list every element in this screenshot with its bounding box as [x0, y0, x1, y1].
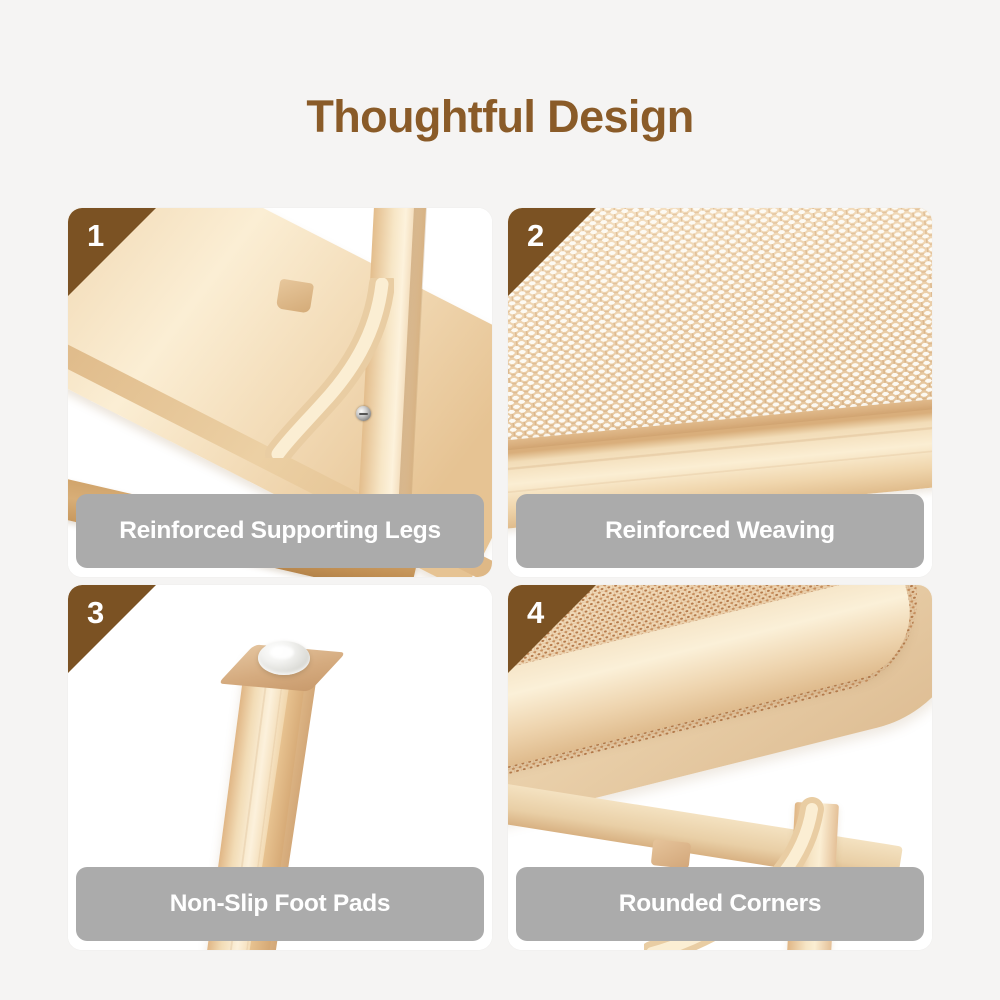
- card-1-caption-text: Reinforced Supporting Legs: [119, 517, 441, 545]
- page-title: Thoughtful Design: [0, 92, 1000, 142]
- card-4-caption-text: Rounded Corners: [619, 890, 821, 918]
- feature-card-2[interactable]: 2 Reinforced Weaving: [508, 208, 932, 577]
- card-1-badge: 1: [68, 208, 156, 296]
- card-4-number: 4: [527, 597, 544, 628]
- card-1-caption-bar: Reinforced Supporting Legs: [76, 494, 484, 568]
- feature-card-4[interactable]: 4 Rounded Corners: [508, 585, 932, 950]
- card-2-caption-bar: Reinforced Weaving: [516, 494, 924, 568]
- card-2-number: 2: [527, 220, 544, 251]
- feature-card-1[interactable]: 1 Reinforced Supporting Legs: [68, 208, 492, 577]
- curved-brace-shape: [264, 278, 394, 458]
- card-3-number: 3: [87, 597, 104, 628]
- card-3-caption-text: Non-Slip Foot Pads: [170, 890, 391, 918]
- non-slip-pad: [258, 641, 310, 675]
- card-2-badge: 2: [508, 208, 596, 296]
- card-1-number: 1: [87, 220, 104, 251]
- card-2-caption-text: Reinforced Weaving: [605, 517, 835, 545]
- card-4-badge: 4: [508, 585, 596, 673]
- screw-detail: [356, 406, 371, 421]
- card-3-badge: 3: [68, 585, 156, 673]
- feature-card-grid: 1 Reinforced Supporting Legs 2 Reinforce…: [68, 208, 932, 950]
- card-3-caption-bar: Non-Slip Foot Pads: [76, 867, 484, 941]
- feature-card-3[interactable]: 3 Non-Slip Foot Pads: [68, 585, 492, 950]
- card-4-caption-bar: Rounded Corners: [516, 867, 924, 941]
